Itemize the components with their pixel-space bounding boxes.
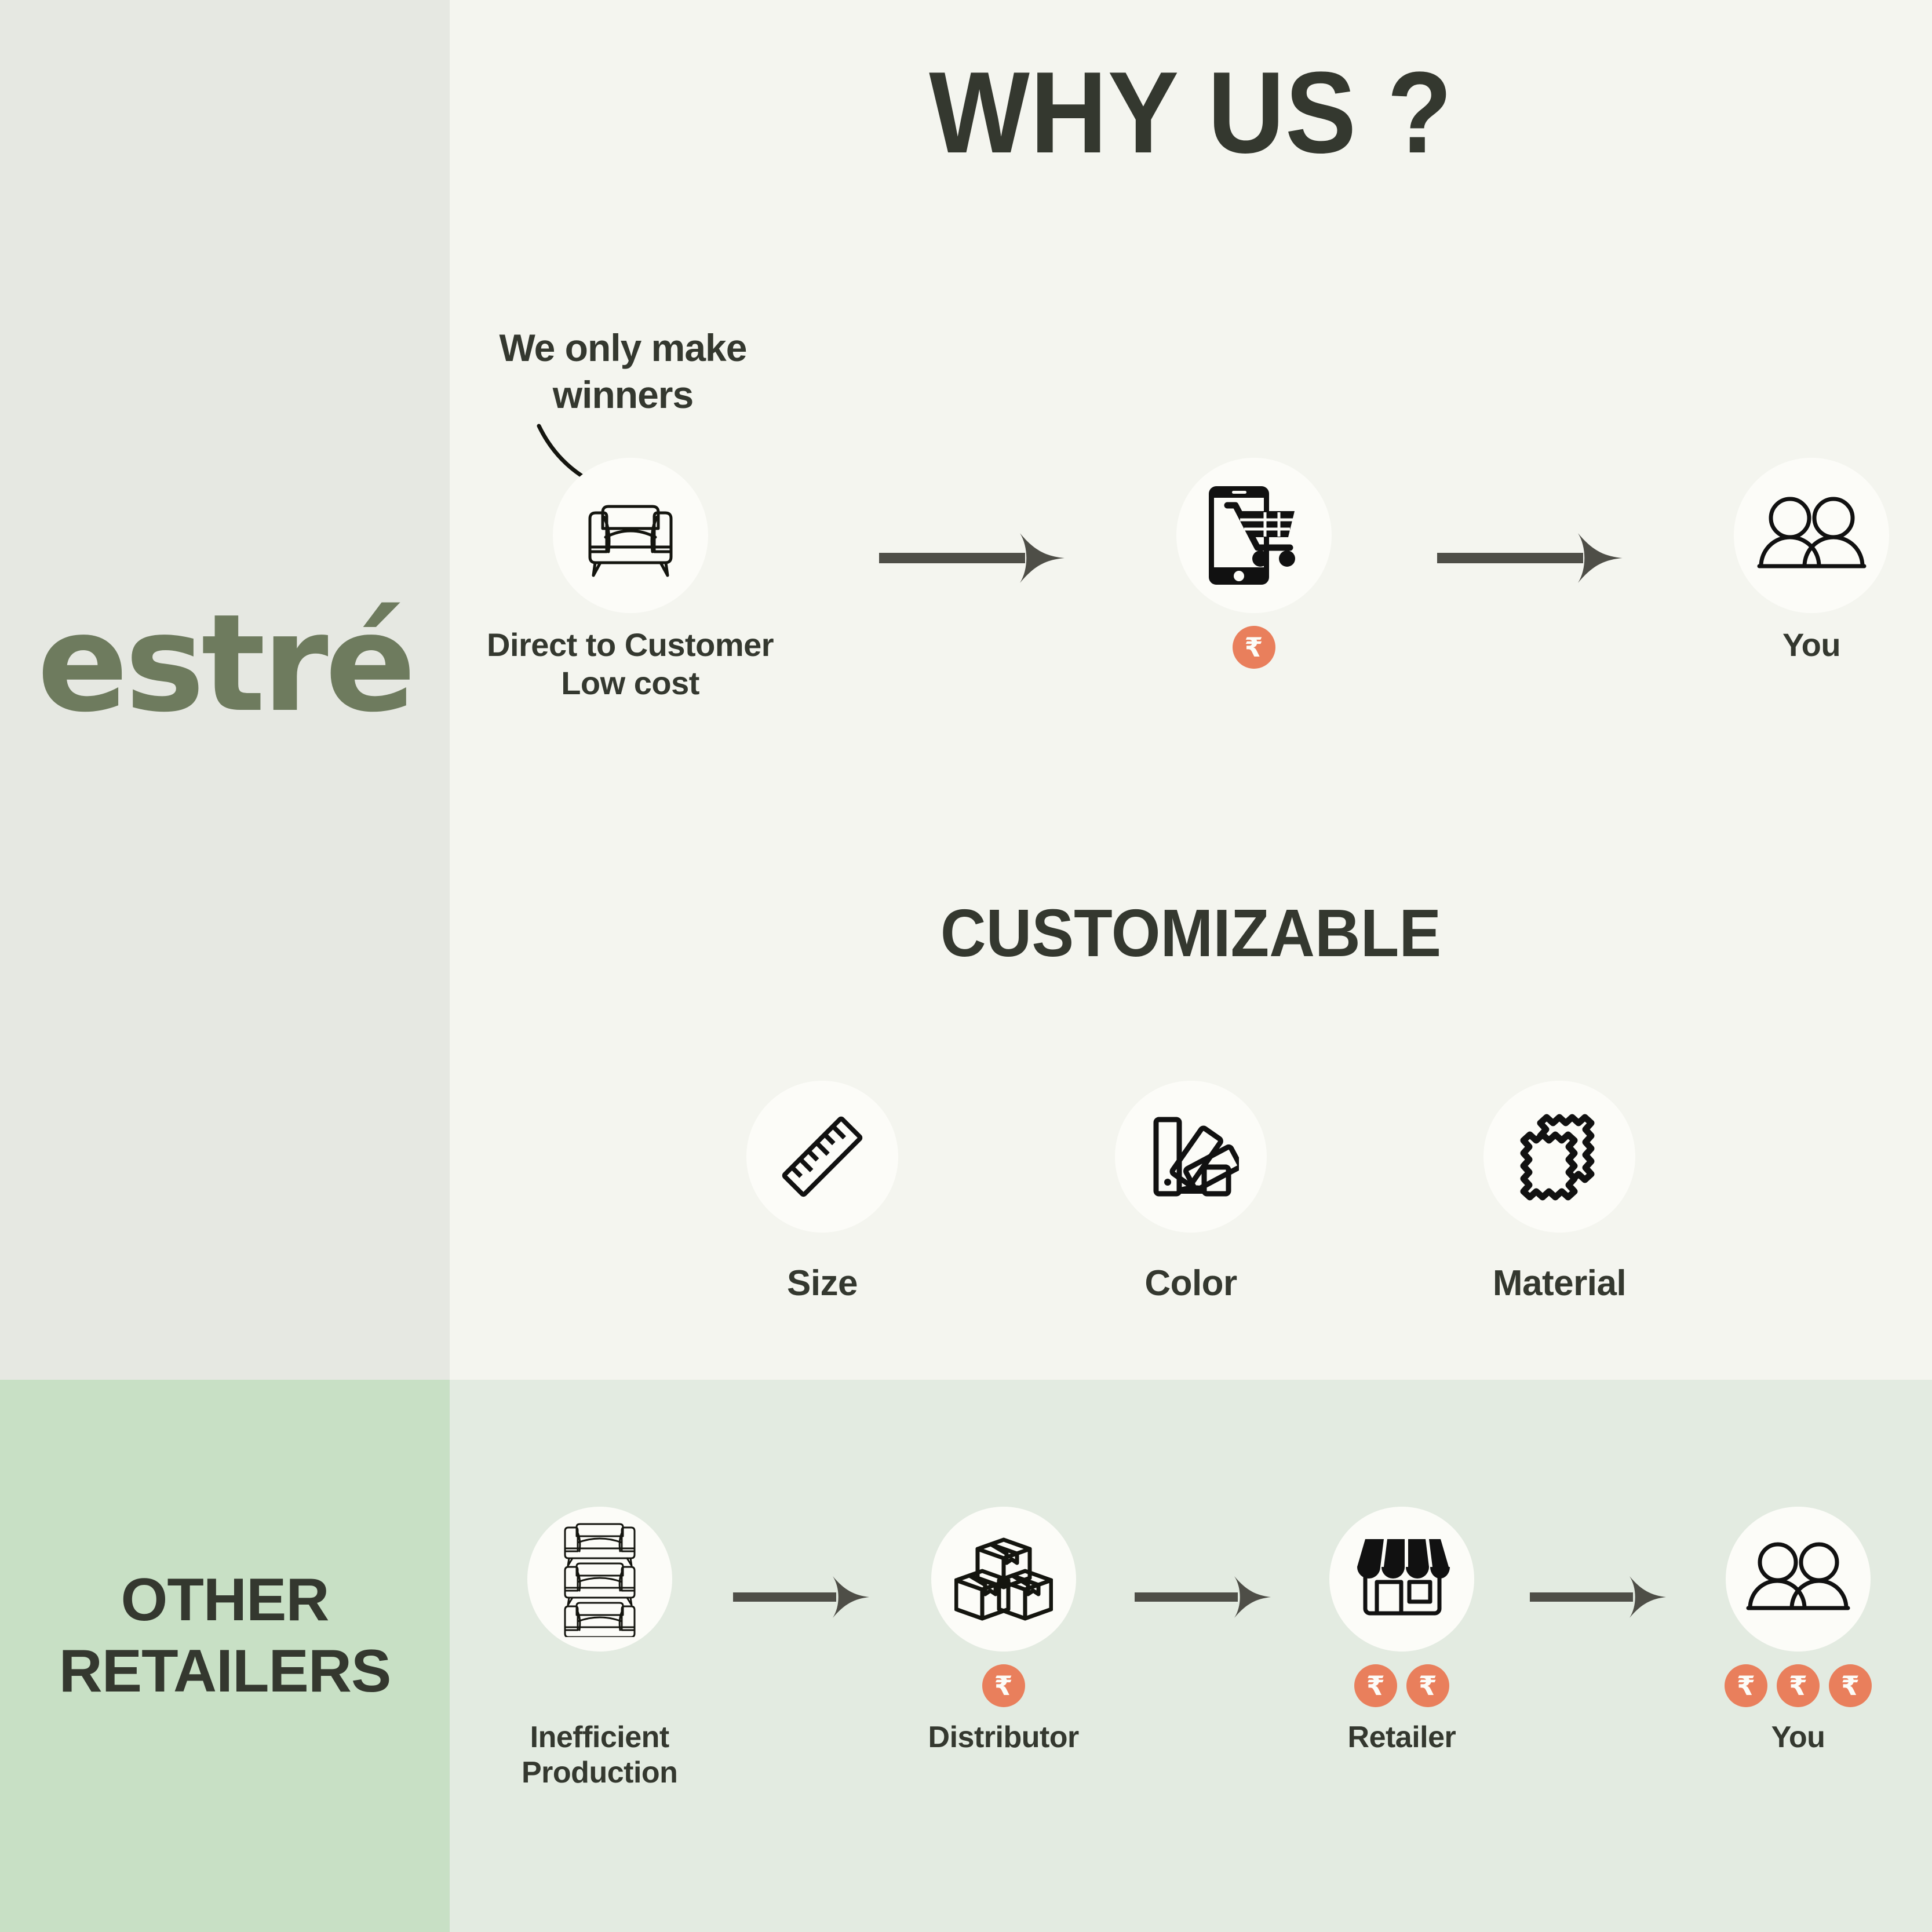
flow-arrow-2	[1332, 526, 1734, 590]
coin-group-retailer: ₹ ₹	[1354, 1664, 1449, 1707]
ruler-icon-bubble	[746, 1081, 898, 1233]
flow-node-label: Retailer	[1348, 1720, 1456, 1755]
flow-arrow-5	[1474, 1572, 1725, 1624]
flow-arrow-1	[774, 526, 1176, 590]
customizable-option-label: Size	[787, 1263, 858, 1304]
color-swatch-fan-icon-bubble	[1115, 1081, 1267, 1233]
two-people-icon	[1754, 492, 1869, 579]
storefront-icon	[1353, 1534, 1451, 1624]
flow-node-label: You	[1771, 1720, 1825, 1755]
flow-node-label: Distributor	[928, 1720, 1079, 1755]
two-people-icon-bubble	[1726, 1507, 1871, 1652]
flow-node-distributor[interactable]: ₹ Distributor	[928, 1507, 1079, 1755]
customizable-option-material[interactable]: Material	[1483, 1081, 1635, 1304]
flow-node-online-store[interactable]: ₹	[1176, 458, 1332, 669]
color-swatch-fan-icon	[1143, 1109, 1239, 1205]
coin-group-distributor: ₹	[982, 1664, 1025, 1707]
two-people-icon-bubble	[1734, 458, 1889, 613]
ruler-icon	[776, 1110, 869, 1203]
boxes-icon-bubble	[931, 1507, 1076, 1652]
estre-flow-row: Direct to Customer Low cost	[487, 458, 1889, 702]
two-people-icon	[1743, 1538, 1853, 1620]
infographic-canvas: estré OTHER RETAILERS WHY US ? We only m…	[0, 0, 1932, 1932]
customizable-option-label: Color	[1144, 1263, 1237, 1304]
coin-group-online-store: ₹	[1233, 626, 1275, 669]
rupee-coin-icon: ₹	[1777, 1664, 1820, 1707]
stacked-sofas-icon	[551, 1521, 648, 1637]
coin-group-you-retailer: ₹ ₹ ₹	[1725, 1664, 1872, 1707]
page-title: WHY US ?	[509, 55, 1872, 171]
callout-text: We only make winners	[469, 325, 777, 418]
flow-node-label: Inefficient Production	[522, 1720, 677, 1791]
rupee-coin-icon: ₹	[1233, 626, 1275, 669]
brand-logo: estré	[0, 585, 450, 742]
rupee-coin-icon: ₹	[1829, 1664, 1872, 1707]
flow-node-direct-to-customer[interactable]: Direct to Customer Low cost	[487, 458, 774, 702]
other-retailers-heading: OTHER RETAILERS	[0, 1565, 450, 1707]
customizable-option-size[interactable]: Size	[746, 1081, 898, 1304]
storefront-icon-bubble	[1329, 1507, 1474, 1652]
customizable-option-color[interactable]: Color	[1115, 1081, 1267, 1304]
rupee-coin-icon: ₹	[1406, 1664, 1449, 1707]
rupee-coin-icon: ₹	[982, 1664, 1025, 1707]
customizable-option-label: Material	[1493, 1263, 1626, 1304]
flow-node-you-estre[interactable]: You	[1734, 458, 1889, 664]
flow-node-inefficient-production[interactable]: Inefficient Production	[522, 1507, 677, 1791]
flow-node-label: Direct to Customer Low cost	[487, 626, 774, 702]
customizable-options-row: Size Color	[450, 1081, 1932, 1304]
flow-node-you-retailer[interactable]: ₹ ₹ ₹ You	[1725, 1507, 1872, 1755]
flow-node-retailer[interactable]: ₹ ₹ Retailer	[1329, 1507, 1474, 1755]
rupee-coin-icon: ₹	[1725, 1664, 1767, 1707]
retailer-flow-row: Inefficient Production	[522, 1507, 1872, 1791]
flow-arrow-4	[1079, 1572, 1329, 1624]
sofa-icon	[575, 492, 686, 579]
flow-arrow-3	[677, 1572, 928, 1624]
rupee-coin-icon: ₹	[1354, 1664, 1397, 1707]
sofa-icon-bubble	[553, 458, 708, 613]
brand-logo-text: estré	[37, 596, 413, 731]
fabric-swatch-icon-bubble	[1483, 1081, 1635, 1233]
stacked-sofas-icon-bubble	[527, 1507, 672, 1652]
boxes-icon	[954, 1533, 1053, 1625]
customizable-heading: CUSTOMIZABLE	[494, 899, 1888, 967]
fabric-swatch-icon	[1510, 1107, 1609, 1206]
mobile-shopping-cart-icon	[1200, 483, 1307, 588]
mobile-shopping-cart-icon-bubble	[1176, 458, 1332, 613]
flow-node-label: You	[1782, 626, 1840, 664]
